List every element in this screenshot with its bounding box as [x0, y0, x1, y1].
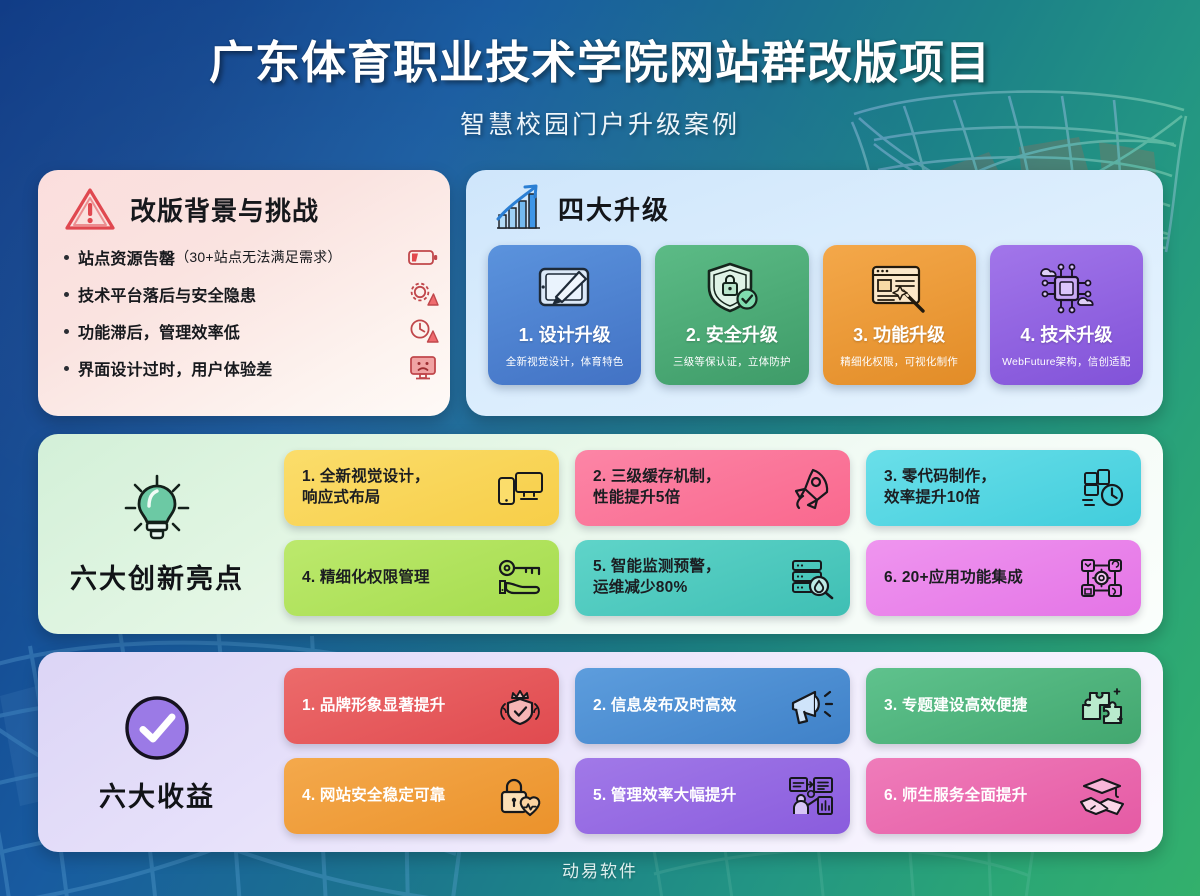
upgrades-grid: 1. 设计升级 全新视觉设计，体育特色 2. 安全升级 三级: [466, 233, 1163, 385]
upgrades-header: 四大升级: [466, 170, 1163, 233]
challenge-item: 技术平台落后与安全隐患: [64, 281, 438, 307]
infographic-stage: 广东体育职业技术学院网站群改版项目 智慧校园门户升级案例 改版背景与挑战 站点资…: [0, 0, 1200, 896]
upgrade-card-security[interactable]: 2. 安全升级 三级等保认证，立体防护: [655, 245, 808, 385]
warning-triangle-icon: [64, 186, 116, 232]
upgrade-card-desc: 三级等保认证，立体防护: [673, 354, 791, 369]
upgrade-card-name: 4. 技术升级: [1020, 321, 1112, 347]
bullet-dot: [64, 292, 69, 297]
benefit-chip-1[interactable]: 1. 品牌形象显著提升: [284, 668, 559, 744]
shield-crown-icon: [497, 684, 543, 728]
challenge-item: 功能滞后，管理效率低: [64, 318, 438, 344]
page-title: 广东体育职业技术学院网站群改版项目: [0, 26, 1200, 91]
highlights-header: 六大创新亮点: [38, 434, 276, 634]
footer-brand: 动易软件: [0, 857, 1200, 882]
upgrade-card-name: 1. 设计升级: [519, 321, 611, 347]
bullet-dot: [64, 255, 69, 260]
benefit-text: 3. 专题建设高效便捷: [884, 696, 1027, 717]
benefit-text: 4. 网站安全稳定可靠: [302, 786, 445, 807]
browser-wand-icon: [867, 257, 931, 319]
benefits-header: 六大收益: [38, 652, 276, 852]
integration-gear-icon: [1079, 556, 1125, 600]
benefit-text: 1. 品牌形象显著提升: [302, 696, 445, 717]
megaphone-icon: [788, 684, 834, 728]
challenge-item: 站点资源告罄 （30+站点无法满足需求）: [64, 244, 438, 270]
highlights-title: 六大创新亮点: [70, 557, 244, 596]
upgrade-card-function[interactable]: 3. 功能升级 精细化权限，可视化制作: [823, 245, 976, 385]
growth-chart-icon: [492, 183, 544, 233]
highlight-chip-4[interactable]: 4. 精细化权限管理: [284, 540, 559, 616]
benefit-chip-2[interactable]: 2. 信息发布及时高效: [575, 668, 850, 744]
gear-warning-icon: [408, 281, 438, 307]
tablet-brush-icon: [532, 257, 598, 319]
highlight-chip-2[interactable]: 2. 三级缓存机制，性能提升5倍: [575, 450, 850, 526]
challenges-header: 改版背景与挑战: [38, 170, 450, 232]
upgrade-card-name: 3. 功能升级: [853, 321, 945, 347]
highlight-chip-3[interactable]: 3. 零代码制作，效率提升10倍: [866, 450, 1141, 526]
benefits-grid: 1. 品牌形象显著提升 2. 信息发布及时高效: [276, 652, 1163, 852]
benefit-chip-3[interactable]: 3. 专题建设高效便捷: [866, 668, 1141, 744]
highlight-text: 6. 20+应用功能集成: [884, 568, 1023, 589]
puzzle-icon: [1079, 684, 1125, 728]
highlight-text: 5. 智能监测预警，运维减少80%: [593, 557, 721, 599]
benefit-text: 6. 师生服务全面提升: [884, 786, 1027, 807]
low-battery-icon: [408, 244, 438, 270]
lightbulb-icon: [118, 473, 196, 547]
bullet-dot: [64, 329, 69, 334]
upgrades-panel: 四大升级 1. 设计升级 全新视觉设计，体育特色: [466, 170, 1163, 416]
challenge-text: 界面设计过时，用户体验差: [78, 356, 272, 380]
upgrade-card-desc: 全新视觉设计，体育特色: [506, 354, 624, 369]
key-hand-icon: [497, 556, 543, 600]
highlight-text: 3. 零代码制作，效率提升10倍: [884, 467, 996, 509]
upgrade-card-desc: WebFuture架构，信创适配: [1002, 354, 1130, 369]
page-subtitle: 智慧校园门户升级案例: [0, 105, 1200, 141]
rocket-icon: [788, 466, 834, 510]
highlight-text: 4. 精细化权限管理: [302, 568, 430, 589]
clock-warning-icon: [408, 318, 438, 344]
challenges-panel: 改版背景与挑战 站点资源告罄 （30+站点无法满足需求） 技术平台落后与安全隐患: [38, 170, 450, 416]
benefit-chip-4[interactable]: 4. 网站安全稳定可靠: [284, 758, 559, 834]
challenge-subtext: （30+站点无法满足需求）: [175, 247, 341, 267]
highlights-grid: 1. 全新视觉设计，响应式布局 2. 三级缓存机制，性能提升5倍: [276, 434, 1163, 634]
highlights-panel: 六大创新亮点 1. 全新视觉设计，响应式布局 2. 三级: [38, 434, 1163, 634]
challenge-text: 功能滞后，管理效率低: [78, 319, 240, 343]
challenge-item: 界面设计过时，用户体验差: [64, 355, 438, 381]
highlight-chip-6[interactable]: 6. 20+应用功能集成: [866, 540, 1141, 616]
upgrades-title: 四大升级: [558, 190, 670, 227]
chip-cloud-icon: [1035, 257, 1097, 319]
presenter-chart-icon: [788, 774, 834, 818]
challenges-list: 站点资源告罄 （30+站点无法满足需求） 技术平台落后与安全隐患: [38, 244, 450, 381]
benefits-title: 六大收益: [99, 775, 215, 814]
benefit-text: 2. 信息发布及时高效: [593, 696, 736, 717]
graduation-handshake-icon: [1079, 774, 1125, 818]
highlight-text: 2. 三级缓存机制，性能提升5倍: [593, 467, 721, 509]
highlight-chip-5[interactable]: 5. 智能监测预警，运维减少80%: [575, 540, 850, 616]
bullet-dot: [64, 366, 69, 371]
challenge-text: 站点资源告罄: [78, 245, 175, 269]
server-search-icon: [788, 556, 834, 600]
benefit-text: 5. 管理效率大幅提升: [593, 786, 736, 807]
devices-responsive-icon: [497, 466, 543, 510]
sad-monitor-icon: [408, 355, 438, 381]
highlight-chip-1[interactable]: 1. 全新视觉设计，响应式布局: [284, 450, 559, 526]
upgrade-card-desc: 精细化权限，可视化制作: [840, 354, 958, 369]
upgrade-card-name: 2. 安全升级: [686, 321, 778, 347]
lock-heart-icon: [497, 774, 543, 818]
upgrade-card-technology[interactable]: 4. 技术升级 WebFuture架构，信创适配: [990, 245, 1143, 385]
blocks-clock-icon: [1079, 466, 1125, 510]
benefit-chip-5[interactable]: 5. 管理效率大幅提升: [575, 758, 850, 834]
benefits-panel: 六大收益 1. 品牌形象显著提升 2. 信息发布及时高效: [38, 652, 1163, 852]
highlight-text: 1. 全新视觉设计，响应式布局: [302, 467, 430, 509]
check-circle-icon: [120, 691, 194, 765]
shield-lock-check-icon: [701, 257, 763, 319]
benefit-chip-6[interactable]: 6. 师生服务全面提升: [866, 758, 1141, 834]
challenge-text: 技术平台落后与安全隐患: [78, 282, 256, 306]
challenges-title: 改版背景与挑战: [130, 191, 319, 228]
upgrade-card-design[interactable]: 1. 设计升级 全新视觉设计，体育特色: [488, 245, 641, 385]
page-header: 广东体育职业技术学院网站群改版项目 智慧校园门户升级案例: [0, 0, 1200, 160]
